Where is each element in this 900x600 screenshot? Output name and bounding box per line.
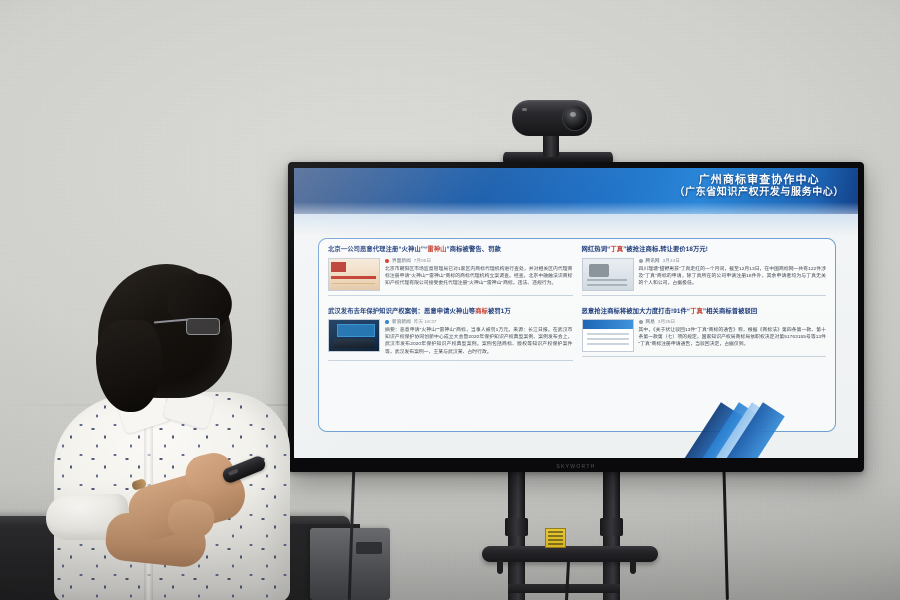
news-summary: 四川理塘“甜野男孩”丁真走红的一个月间，截至12月13日，在中国商标网一共有12… (639, 266, 827, 288)
news-body: 界面新闻 7月05日 北京市朝阳区市场监督管理局已对1家区内商标代理机构进行查处… (328, 258, 573, 291)
news-source-line: 新浪新闻 昨天 18:37 (385, 319, 573, 325)
news-headline: 武汉发布去年保护知识产权案例：恶意申请火神山等商标被罚1万 (328, 308, 573, 317)
slide-header-text: 广州商标审查协作中心 （广东省知识产权开发与服务中心） (674, 173, 844, 200)
video-conference-camera-icon (512, 100, 592, 136)
news-text-block: 界面新闻 7月05日 北京市朝阳区市场监督管理局已对1家区内商标代理机构进行查处… (385, 258, 573, 291)
source-icon (385, 259, 389, 263)
glasses-icon (186, 318, 220, 335)
news-text-block: 腾讯网 3月24日 四川理塘“甜野男孩”丁真走红的一个月间，截至12月13日，在… (639, 258, 827, 291)
news-headline: 恶意抢注商标将被加大力度打击!91件“丁真”相关商标曾被驳回 (582, 308, 827, 317)
news-source-name: 网易 (646, 319, 655, 325)
display-screen: 广州商标审查协作中心 （广东省知识产权开发与服务中心） 北京一公司恶意代理注册“… (294, 168, 858, 458)
webcam-neck (543, 133, 559, 157)
news-thumb-screenshot (582, 258, 634, 291)
floor-shadow (0, 480, 900, 600)
news-item[interactable]: 网红热词“丁真”被抢注商标,转让要价18万元! 腾讯网 3月24日 (582, 245, 827, 300)
org-name-primary: 广州商标审查协作中心 (674, 173, 844, 187)
news-date: 昨天 18:37 (414, 319, 437, 325)
org-name-secondary: （广东省知识产权开发与服务中心） (674, 187, 844, 200)
news-summary: 北京市朝阳区市场监督管理局已对1家区内商标代理机构进行查处，并对相关区内代理商标… (385, 266, 573, 288)
slide-header-banner: 广州商标审查协作中心 （广东省知识产权开发与服务中心） (294, 168, 858, 214)
news-body: 新浪新闻 昨天 18:37 摘要：恶意申请“火神山”“雷神山”商标，当事人被罚1… (328, 319, 573, 356)
news-summary: 摘要：恶意申请“火神山”“雷神山”商标，当事人被罚1万元。来源：长江日报。在武汉… (385, 327, 573, 356)
source-icon (639, 320, 643, 324)
news-source-line: 网易 3月25日 (639, 319, 827, 325)
presentation-slide: 广州商标审查协作中心 （广东省知识产权开发与服务中心） 北京一公司恶意代理注册“… (294, 168, 858, 458)
news-source-name: 界面新闻 (392, 258, 411, 264)
news-thumb-website (582, 319, 634, 352)
news-text-block: 新浪新闻 昨天 18:37 摘要：恶意申请“火神山”“雷神山”商标，当事人被罚1… (385, 319, 573, 356)
article-column-left: 北京一公司恶意代理注册“火神山”“雷神山”商标被警告、罚款 界面新闻 7月05日 (328, 245, 573, 365)
news-source-line: 腾讯网 3月24日 (639, 258, 827, 264)
article-column-right: 网红热词“丁真”被抢注商标,转让要价18万元! 腾讯网 3月24日 (582, 245, 827, 365)
news-headline: 网红热词“丁真”被抢注商标,转让要价18万元! (582, 246, 827, 255)
news-text-block: 网易 3月25日 其中，《关于状让驳回13件“丁真”商标的通告》称，根据《商标法… (639, 319, 827, 352)
meeting-room-photo: 广州商标审查协作中心 （广东省知识产权开发与服务中心） 北京一公司恶意代理注册“… (0, 0, 900, 600)
source-icon (639, 259, 643, 263)
slide-content-box: 北京一公司恶意代理注册“火神山”“雷神山”商标被警告、罚款 界面新闻 7月05日 (318, 238, 836, 432)
flat-panel-display[interactable]: 广州商标审查协作中心 （广东省知识产权开发与服务中心） 北京一公司恶意代理注册“… (288, 162, 864, 472)
article-divider (582, 356, 827, 357)
article-divider (328, 360, 573, 361)
news-date: 3月24日 (663, 258, 680, 264)
news-body: 腾讯网 3月24日 四川理塘“甜野男孩”丁真走红的一个月间，截至12月13日，在… (582, 258, 827, 291)
news-date: 3月25日 (658, 319, 675, 325)
news-item[interactable]: 恶意抢注商标将被加大力度打击!91件“丁真”相关商标曾被驳回 网易 3月25日 (582, 307, 827, 362)
news-item[interactable]: 北京一公司恶意代理注册“火神山”“雷神山”商标被警告、罚款 界面新闻 7月05日 (328, 245, 573, 300)
article-columns: 北京一公司恶意代理注册“火神山”“雷神山”商标被警告、罚款 界面新闻 7月05日 (328, 245, 826, 365)
presenter-hair-side (96, 320, 162, 412)
news-item[interactable]: 武汉发布去年保护知识产权案例：恶意申请火神山等商标被罚1万 新浪新闻 昨天 18… (328, 307, 573, 365)
news-date: 7月05日 (414, 258, 431, 264)
display-brand-logo: SKYWORTH (556, 464, 595, 470)
webcam-lens (562, 105, 588, 131)
header-gradient-fade (294, 214, 858, 236)
news-source-name: 腾讯网 (646, 258, 660, 264)
news-headline: 北京一公司恶意代理注册“火神山”“雷神山”商标被警告、罚款 (328, 246, 573, 255)
article-divider (328, 295, 573, 296)
article-divider (582, 295, 827, 296)
news-source-name: 新浪新闻 (392, 319, 411, 325)
news-source-line: 界面新闻 7月05日 (385, 258, 573, 264)
news-body: 网易 3月25日 其中，《关于状让驳回13件“丁真”商标的通告》称，根据《商标法… (582, 319, 827, 352)
source-icon (385, 320, 389, 324)
news-summary: 其中，《关于状让驳回13件“丁真”商标的通告》称，根据《商标法》第四条第一款、第… (639, 327, 827, 349)
webcam-indicator-led (522, 108, 527, 111)
